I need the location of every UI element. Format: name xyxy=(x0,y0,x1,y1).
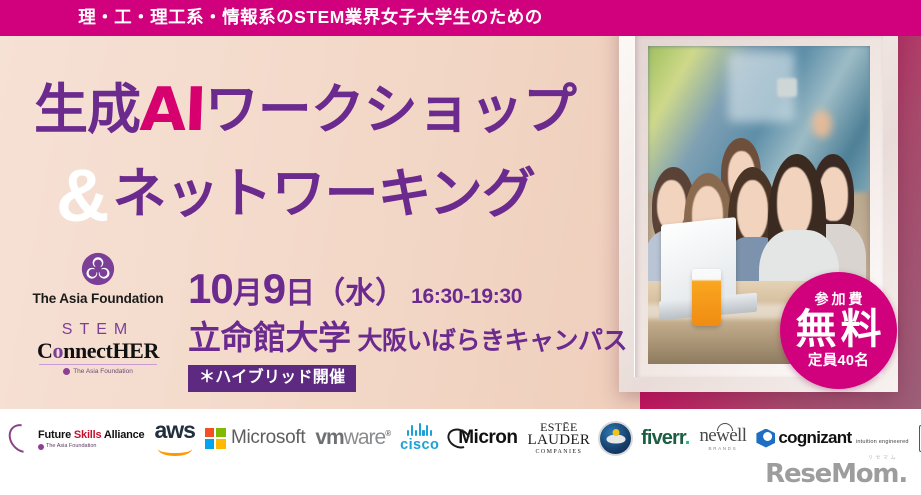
price-badge: 参加費 無料 定員40名 xyxy=(780,272,897,389)
main-title: 生成AIワークショップ &ネットワーキング xyxy=(34,78,614,224)
fiverr-wordmark: fiverr. xyxy=(641,427,689,450)
asia-foundation-name: The Asia Foundation xyxy=(18,291,178,306)
connecther-o: o xyxy=(53,338,64,363)
stem-word: STEM xyxy=(18,322,178,338)
asia-foundation-icon xyxy=(81,252,115,286)
photo-ceiling-lamp xyxy=(777,78,797,97)
top-banner-text: 理・工・理工系・情報系のSTEM業界女子大学生のための xyxy=(78,9,543,27)
connecther-word: ConnectHER xyxy=(18,339,178,362)
cognizant-hex-icon xyxy=(756,429,775,448)
sponsor-cisco: cisco xyxy=(400,418,439,458)
connecther-c: C xyxy=(37,338,53,363)
connecther-rest: nnectHER xyxy=(63,338,159,363)
fsa-dot-icon xyxy=(38,444,44,450)
aws-smile-icon xyxy=(158,442,192,456)
title-ai: AI xyxy=(139,80,206,140)
price-badge-value: 無料 xyxy=(792,309,886,350)
sponsor-seal-emblem xyxy=(600,418,631,458)
date-day-unit: 日 xyxy=(285,277,315,310)
cisco-bars-icon xyxy=(400,423,439,436)
connecther-subline: The Asia Foundation xyxy=(18,368,178,375)
newell-subword: BRANDS xyxy=(699,446,746,451)
poster-root: 理・工・理工系・情報系のSTEM業界女子大学生のための 生成AIワークショップ … xyxy=(0,0,921,495)
date-weekday: （水） xyxy=(315,277,405,310)
date-month-unit: 月 xyxy=(233,277,263,310)
title-line-2: &ネットワーキング xyxy=(34,150,614,224)
photo-orange-juice-glass xyxy=(692,269,721,326)
event-time: 16:30-19:30 xyxy=(411,285,522,308)
title-line-1: 生成AIワークショップ xyxy=(34,78,614,138)
event-info: 10月9日（水）16:30-19:30 立命館大学大阪いばらきキャンパス ＊ハイ… xyxy=(188,268,627,392)
sponsor-aws: aws xyxy=(154,418,194,458)
estee-line3: COMPANIES xyxy=(528,449,591,455)
asia-foundation-small-icon xyxy=(63,368,70,375)
event-date-line: 10月9日（水）16:30-19:30 xyxy=(188,268,627,310)
sponsor-logo-row: Future Skills Alliance The Asia Foundati… xyxy=(0,409,921,458)
seal-emblem-icon xyxy=(600,423,631,454)
venue-university: 立命館大学 xyxy=(188,319,351,356)
vmware-wordmark: vmware® xyxy=(315,426,390,450)
cisco-wordmark: cisco xyxy=(400,438,439,453)
microsoft-squares-icon xyxy=(205,428,226,449)
date-month: 10 xyxy=(188,265,233,312)
cognizant-tagline: intuition engineered xyxy=(856,439,909,445)
title-workshop: ワークショップ xyxy=(205,80,576,140)
estee-line2: LAUDER xyxy=(528,433,591,448)
title-seisei: 生成 xyxy=(34,80,140,140)
fsa-subline: The Asia Foundation xyxy=(38,444,144,450)
event-venue-line: 立命館大学大阪いばらきキャンパス xyxy=(188,321,627,354)
cognizant-wordmark: cognizant xyxy=(778,428,851,447)
sponsor-cognizant: cognizant intuition engineered xyxy=(756,418,908,458)
price-badge-capacity: 定員40名 xyxy=(808,354,869,369)
stem-connecther-logo: STEM ConnectHER The Asia Foundation xyxy=(18,322,178,375)
hybrid-badge: ＊ハイブリッド開催 xyxy=(188,365,356,392)
sponsor-fiverr: fiverr. xyxy=(641,418,689,458)
photo-student-head-main xyxy=(777,167,813,237)
sponsor-estee-lauder: ESTĒE LAUDER COMPANIES xyxy=(528,418,591,458)
title-networking: ネットワーキング xyxy=(112,164,534,224)
resemom-watermark: リセマム ReseMom. xyxy=(765,456,907,487)
connecther-rule xyxy=(39,364,157,365)
aws-wordmark: aws xyxy=(154,420,194,441)
sponsor-micron: Micron xyxy=(449,418,517,458)
photo-student-head-3 xyxy=(737,180,768,240)
sponsor-vmware: vmware® xyxy=(315,418,390,458)
sponsor-newell: newell BRANDS xyxy=(699,418,746,458)
title-ampersand: & xyxy=(56,159,108,233)
future-skills-arc-icon xyxy=(3,418,42,458)
price-badge-label: 参加費 xyxy=(812,292,866,306)
connecther-sub-text: The Asia Foundation xyxy=(73,368,133,375)
newell-arc-icon xyxy=(717,423,733,431)
organizer-logos: The Asia Foundation STEM ConnectHER The … xyxy=(18,252,178,375)
sponsor-microsoft: Microsoft xyxy=(205,418,305,458)
fsa-name: Future Skills Alliance xyxy=(38,429,144,441)
resemom-wordmark: ReseMom. xyxy=(765,459,907,489)
venue-campus: 大阪いばらきキャンパス xyxy=(358,327,628,355)
microsoft-wordmark: Microsoft xyxy=(231,427,305,449)
top-banner: 理・工・理工系・情報系のSTEM業界女子大学生のための xyxy=(0,0,921,36)
sponsor-future-skills-alliance: Future Skills Alliance The Asia Foundati… xyxy=(10,418,144,458)
date-day: 9 xyxy=(263,265,285,312)
